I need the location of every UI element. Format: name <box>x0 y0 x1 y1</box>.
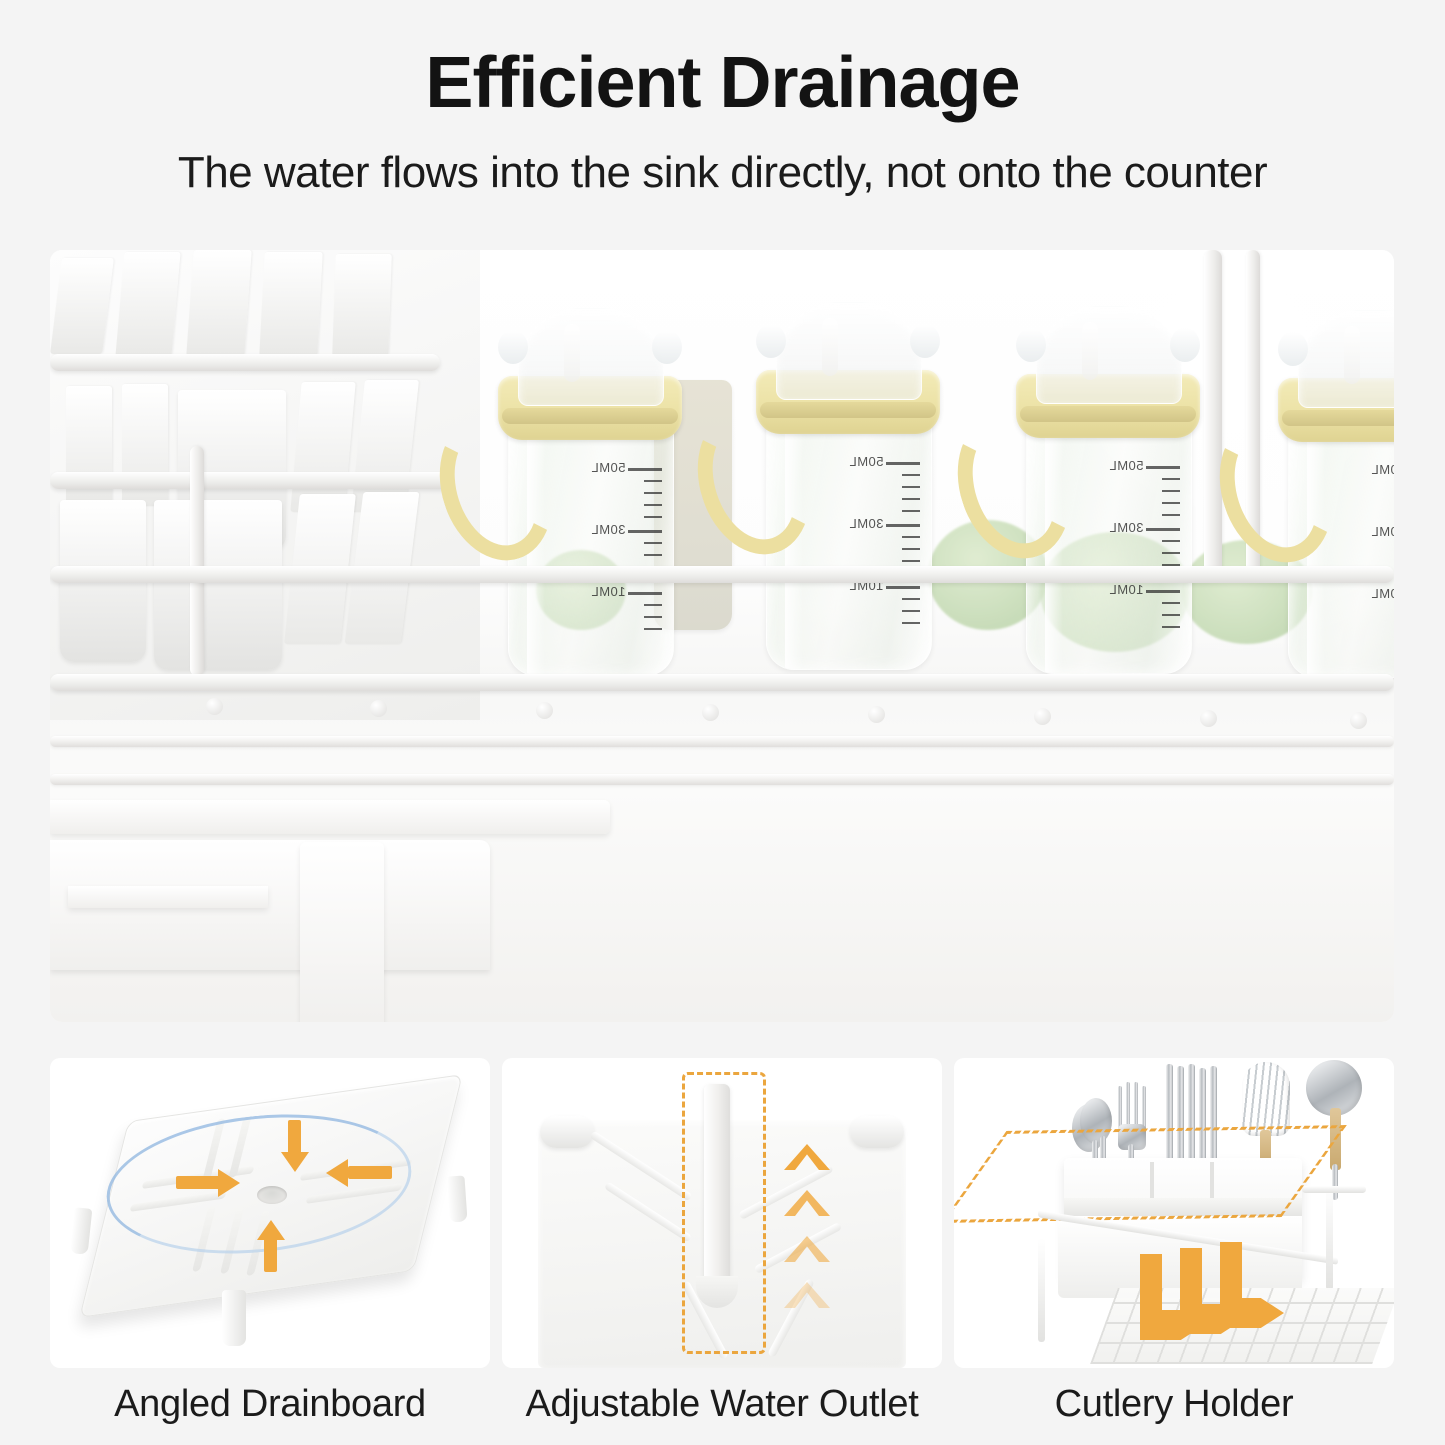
scale-label-50ml: 50ML <box>1109 458 1144 473</box>
scale-label-30ml: 30ML <box>1371 524 1394 539</box>
scale-label-50ml: 50ML <box>1371 462 1394 477</box>
feature-caption-cutlery-holder: Cutlery Holder <box>954 1383 1394 1426</box>
rack-rail-top <box>50 354 440 371</box>
baby-bottle: 50ML 30ML 10ML <box>1010 300 1206 672</box>
rack-base-rail <box>50 774 1394 785</box>
plate <box>290 382 355 512</box>
rack-base-rail <box>50 736 1394 747</box>
rack-rail-mid <box>50 472 450 489</box>
bottle-nipple <box>822 318 838 376</box>
drainboard-leg <box>222 1290 246 1346</box>
plate <box>332 254 392 356</box>
scale-label-30ml: 30ML <box>849 516 884 531</box>
rack-knob <box>1200 710 1217 727</box>
rack-knob <box>702 704 719 721</box>
product-feature-graphic: Efficient Drainage The water flows into … <box>0 0 1445 1445</box>
bottle-measure-scale: 50ML 30ML 10ML <box>1380 454 1394 644</box>
plate <box>186 250 251 356</box>
tray-corner-right <box>850 1116 904 1148</box>
bottle-ear-left <box>756 324 786 358</box>
feature-panel-cutlery-holder[interactable] <box>954 1058 1394 1368</box>
drip-arrow <box>1140 1254 1162 1314</box>
bottle-measure-scale: 50ML 30ML 10ML <box>858 446 920 636</box>
feature-caption-adjustable-water-outlet: Adjustable Water Outlet <box>502 1383 942 1426</box>
page-title: Efficient Drainage <box>0 46 1445 122</box>
drip-arrow <box>1220 1242 1242 1302</box>
bottle-ring <box>1282 410 1394 426</box>
bottle-ear-right <box>652 330 682 364</box>
scale-label-50ml: 50ML <box>591 460 626 475</box>
bottle-ear-right <box>910 324 940 358</box>
bottle-nipple <box>1082 322 1098 380</box>
rack-front-rail-lower <box>50 674 1394 691</box>
rack-vertical-post <box>190 446 204 676</box>
bottle-ear-left <box>1016 328 1046 362</box>
bottle-cap <box>518 308 664 406</box>
bottle-measure-scale: 50ML 30ML 10ML <box>1118 450 1180 640</box>
scale-label-10ml: 10ML <box>1109 582 1144 597</box>
scale-label-10ml: 10ML <box>591 584 626 599</box>
bottle-nipple <box>1344 326 1360 384</box>
rack-front-rail-upper <box>50 566 1394 583</box>
drainboard-leg <box>446 1175 467 1222</box>
bottle-ear-right <box>1170 328 1200 362</box>
bottle-nipple <box>564 324 580 382</box>
baby-bottle: 50ML 30ML 10ML <box>492 302 688 674</box>
bottle-ring <box>502 408 678 424</box>
feature-panel-angled-drainboard[interactable] <box>50 1058 490 1368</box>
drip-arrow <box>1180 1248 1202 1308</box>
page-subtitle: The water flows into the sink directly, … <box>0 148 1445 198</box>
scale-label-10ml: 10ML <box>1371 586 1394 601</box>
feature-panel-row <box>50 1058 1394 1368</box>
drainboard-tray <box>50 800 610 834</box>
hero-image: 50ML 30ML 10ML <box>50 250 1394 1022</box>
feature-panel-adjustable-water-outlet[interactable] <box>502 1058 942 1368</box>
baby-bottle: 50ML 30ML 10ML <box>1272 304 1394 676</box>
rack-knob <box>868 706 885 723</box>
rack-knob <box>1350 712 1367 729</box>
drainboard-leg <box>68 886 268 908</box>
drainboard-leg <box>70 1207 93 1255</box>
scale-label-30ml: 30ML <box>591 522 626 537</box>
plate <box>259 252 322 356</box>
rack-knob <box>1034 708 1051 725</box>
drainboard-leg <box>300 842 384 1022</box>
bottle-cap <box>776 302 922 400</box>
bottle-ring <box>760 402 936 418</box>
highlight-dashed-box <box>682 1072 766 1354</box>
feature-caption-angled-drainboard: Angled Drainboard <box>50 1383 490 1426</box>
bottle-ring <box>1020 406 1196 422</box>
tray-corner-left <box>540 1116 594 1148</box>
scale-label-50ml: 50ML <box>849 454 884 469</box>
rack-wire <box>1302 1186 1366 1193</box>
bottle-ear-left <box>1278 332 1308 366</box>
rack-wire <box>1038 1238 1045 1342</box>
plate <box>115 252 180 356</box>
rack-frame-right <box>1204 250 1222 580</box>
rack-knob <box>536 702 553 719</box>
rack-wire <box>1326 1186 1333 1290</box>
bottle-cap <box>1036 306 1182 404</box>
rack-knob <box>370 700 387 717</box>
baby-bottle: 50ML 30ML 10ML <box>750 296 946 668</box>
bottle-measure-scale: 50ML 30ML 10ML <box>600 452 662 642</box>
rack-knob <box>206 698 223 715</box>
cup <box>154 500 282 670</box>
bottle-ear-left <box>498 330 528 364</box>
scale-label-30ml: 30ML <box>1109 520 1144 535</box>
